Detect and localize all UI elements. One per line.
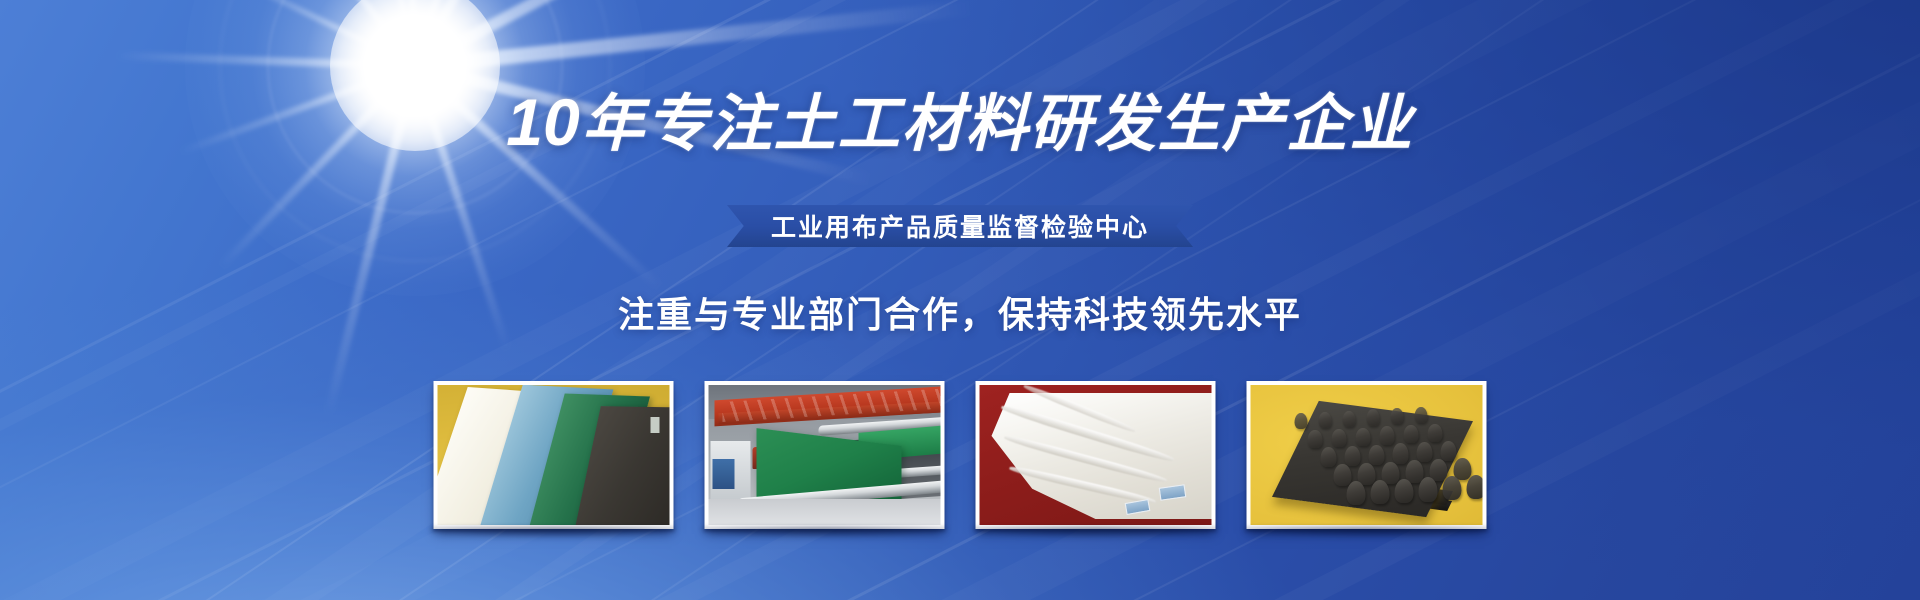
drainage-dimple: [1334, 464, 1352, 486]
drainage-dimple: [1321, 447, 1337, 467]
drainage-dimple: [1369, 445, 1385, 465]
drainage-dimple: [1356, 428, 1371, 446]
drainage-dimple: [1308, 430, 1323, 448]
drainage-dimple: [1441, 441, 1457, 461]
drainage-dimple: [1343, 411, 1356, 427]
product-thumbnail-strip: [434, 381, 1487, 529]
drainage-dimple: [1332, 429, 1347, 447]
drainage-dimple: [1295, 413, 1308, 429]
drainage-dimple: [1406, 460, 1424, 482]
thumbnail-shadow: [973, 527, 1219, 538]
ribbon-label: 工业用布产品质量监督检验中心: [771, 208, 1149, 244]
photo-geotextile-fabric: [980, 385, 1212, 525]
drainage-dimple: [1319, 412, 1332, 428]
drainage-dimple: [1443, 476, 1462, 500]
drainage-dimple: [1428, 424, 1443, 442]
drainage-dimple: [1391, 408, 1404, 424]
drainage-dimple: [1417, 442, 1433, 462]
drainage-dimple: [1367, 409, 1380, 425]
tagline: 注重与专业部门合作，保持科技领先水平: [0, 286, 1920, 338]
thumbnail-drainage-board[interactable]: [1247, 381, 1487, 529]
thumbnail-shadow: [431, 527, 677, 538]
promo-banner: 10年专注土工材料研发生产企业 工业用布产品质量监督检验中心 注重与专业部门合作…: [0, 0, 1920, 600]
thumbnail-production-line[interactable]: [705, 381, 945, 529]
thumbnail-shadow: [702, 527, 948, 538]
photo-geomembrane-sheets: [438, 385, 670, 525]
certification-ribbon: 工业用布产品质量监督检验中心: [727, 205, 1193, 247]
drainage-dimple: [1415, 407, 1428, 423]
drainage-dimple: [1347, 481, 1366, 505]
drainage-dimple: [1380, 426, 1395, 444]
drainage-dimple: [1404, 425, 1419, 443]
photo-drainage-board: [1251, 385, 1483, 525]
thumbnail-geotextile-fabric[interactable]: [976, 381, 1216, 529]
banner-content: 10年专注土工材料研发生产企业 工业用布产品质量监督检验中心 注重与专业部门合作…: [0, 0, 1920, 600]
thumbnail-geomembrane-sheets[interactable]: [434, 381, 674, 529]
drainage-dimple: [1467, 475, 1483, 499]
thumbnail-shadow: [1244, 527, 1490, 538]
photo-production-line: [709, 385, 941, 525]
page-title: 10年专注土工材料研发生产企业: [0, 88, 1920, 159]
headline-text: 年专注土工材料研发生产企业: [582, 90, 1414, 159]
drainage-dimple: [1393, 443, 1409, 463]
drainage-dimple: [1419, 477, 1438, 501]
drainage-dimple: [1345, 446, 1361, 466]
headline-number: 10: [506, 85, 579, 159]
